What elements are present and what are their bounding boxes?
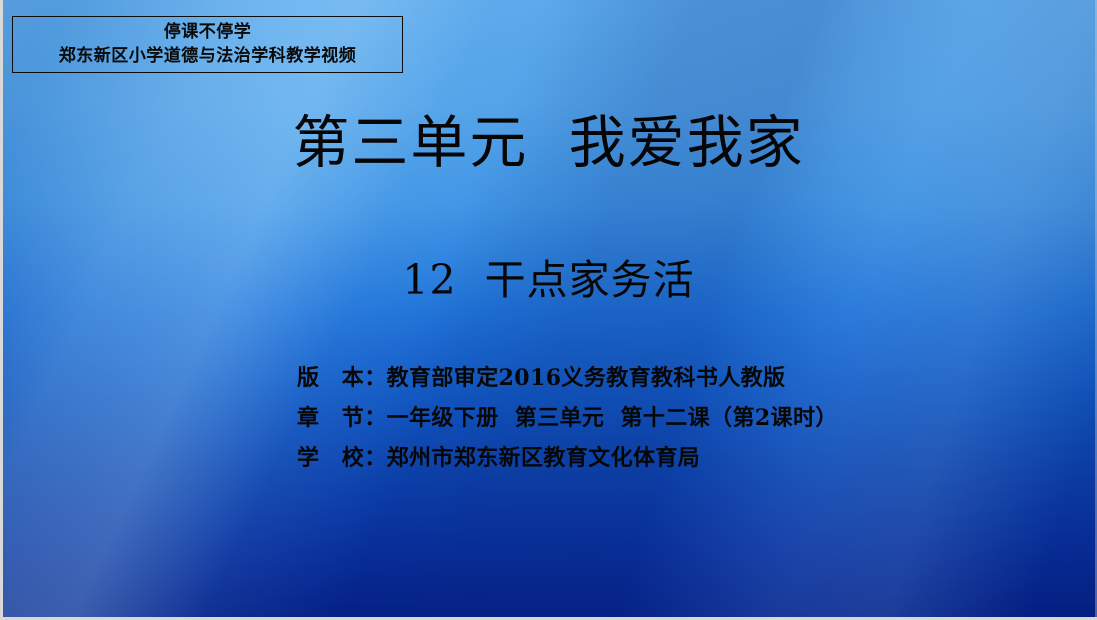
meta-row-chapter: 章 节：一年级下册 第三单元 第十二课（第2课时） xyxy=(297,398,838,438)
background-vignette xyxy=(0,0,1097,620)
meta-row-school: 学 校：郑州市郑东新区教育文化体育局 xyxy=(297,438,838,478)
presentation-slide: 停课不停学 郑东新区小学道德与法治学科教学视频 第三单元 我爱我家 12 干点家… xyxy=(0,0,1097,620)
slide-edge-left xyxy=(0,0,3,620)
header-banner-box: 停课不停学 郑东新区小学道德与法治学科教学视频 xyxy=(12,16,403,73)
meta-row-version: 版 本：教育部审定2016义务教育教科书人教版 xyxy=(297,358,838,398)
header-banner-line-2: 郑东新区小学道德与法治学科教学视频 xyxy=(59,44,357,69)
page-title-unit: 第三单元 我爱我家 xyxy=(0,97,1097,179)
lesson-metadata-block: 版 本：教育部审定2016义务教育教科书人教版 章 节：一年级下册 第三单元 第… xyxy=(297,358,838,478)
page-title-lesson: 12 干点家务活 xyxy=(0,246,1097,306)
header-banner-line-1: 停课不停学 xyxy=(164,20,252,44)
